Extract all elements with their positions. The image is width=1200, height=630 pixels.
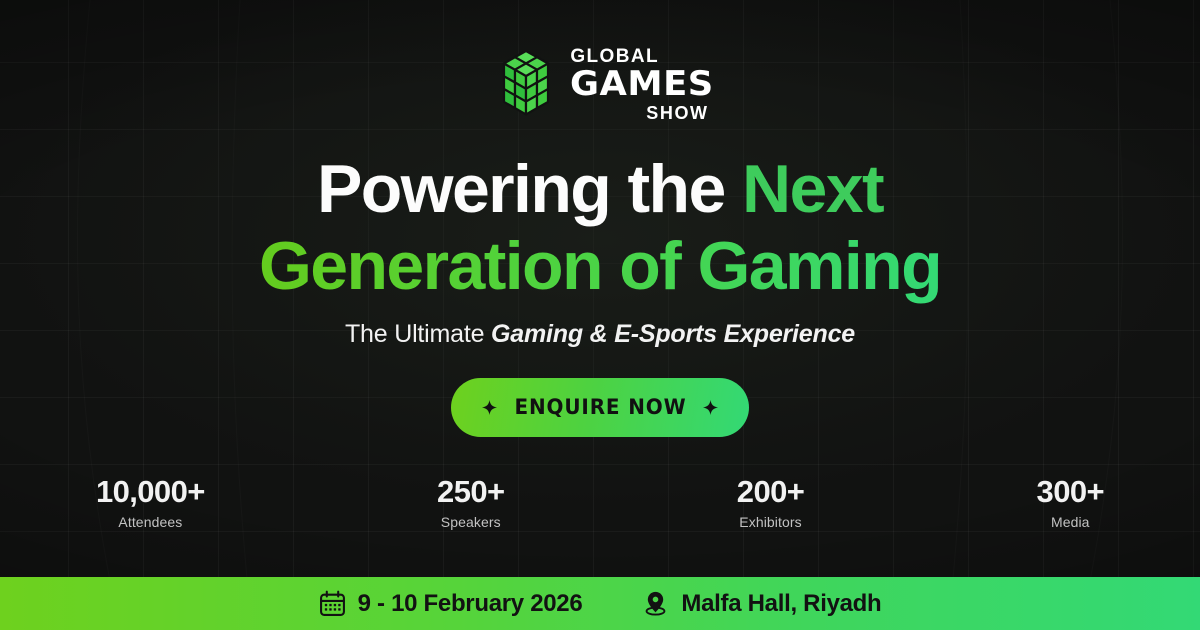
subtitle-plain: The Ultimate [345, 320, 491, 348]
wordmark-show: SHOW [646, 104, 708, 122]
event-date-label: 9 - 10 February 2026 [358, 590, 583, 618]
calendar-icon [319, 590, 346, 617]
stat-label: Exhibitors [739, 514, 801, 530]
isometric-cube-icon [491, 48, 561, 120]
stat-value: 300+ [1037, 476, 1104, 509]
stat-item: 10,000+ Attendees [96, 476, 205, 531]
event-info-bar: 9 - 10 February 2026 Malfa Hall, Riyadh [0, 577, 1200, 630]
event-date: 9 - 10 February 2026 [319, 590, 583, 618]
stat-item: 200+ Exhibitors [737, 476, 804, 531]
sparkle-icon [482, 400, 497, 415]
headline-line-1-white: Powering the [317, 151, 742, 227]
headline-line-2: Generation of Gaming [259, 228, 941, 305]
subtitle: The Ultimate Gaming & E-Sports Experienc… [345, 320, 855, 349]
brand-wordmark: GLOBAL GAMES SHOW [570, 47, 708, 122]
stat-item: 300+ Media [1037, 476, 1104, 531]
stats-row: 10,000+ Attendees 250+ Speakers 200+ Exh… [82, 476, 1118, 531]
headline-line-1: Powering the Next [259, 151, 941, 228]
map-pin-icon [642, 590, 669, 617]
stat-value: 250+ [437, 476, 504, 509]
enquire-now-button[interactable]: ENQUIRE NOW [451, 378, 750, 437]
stat-value: 200+ [737, 476, 804, 509]
stat-value: 10,000+ [96, 476, 205, 509]
banner-content: GLOBAL GAMES SHOW Powering the Next Gene… [0, 0, 1200, 577]
event-location: Malfa Hall, Riyadh [642, 590, 881, 618]
wordmark-games: GAMES [570, 67, 714, 101]
sparkle-icon [703, 400, 718, 415]
headline: Powering the Next Generation of Gaming [259, 151, 941, 305]
event-promo-banner: GLOBAL GAMES SHOW Powering the Next Gene… [0, 0, 1200, 630]
subtitle-emphasis: Gaming & E-Sports Experience [491, 320, 855, 348]
enquire-now-label: ENQUIRE NOW [514, 395, 686, 419]
stat-label: Media [1051, 514, 1090, 530]
stat-item: 250+ Speakers [437, 476, 504, 531]
event-location-label: Malfa Hall, Riyadh [681, 590, 881, 618]
stat-label: Speakers [441, 514, 501, 530]
stat-label: Attendees [118, 514, 182, 530]
headline-line-1-accent: Next [742, 151, 883, 227]
brand-logo[interactable]: GLOBAL GAMES SHOW [491, 48, 708, 120]
